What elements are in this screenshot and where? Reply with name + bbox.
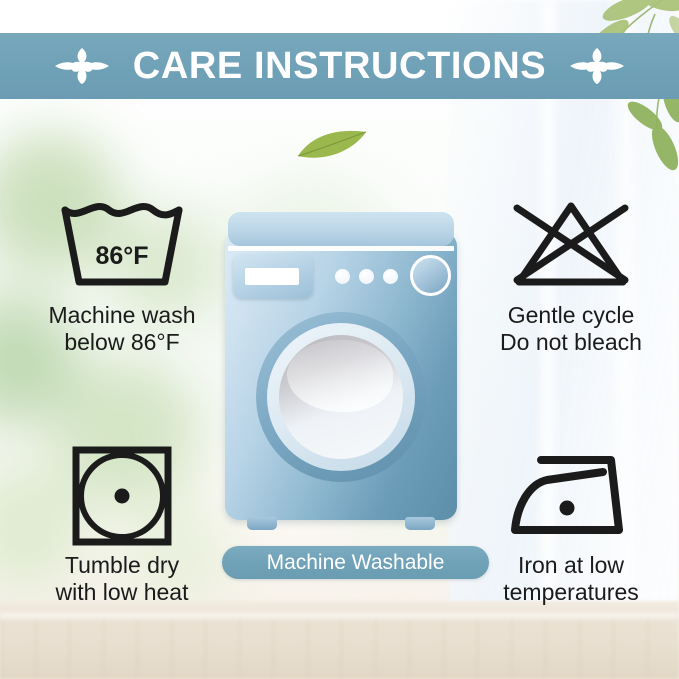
tumble-dry-icon-wrap <box>14 440 230 552</box>
detergent-drawer-slot <box>245 268 299 285</box>
detergent-drawer <box>233 254 313 298</box>
indicator-dot <box>383 269 398 284</box>
porthole-door-highlight <box>287 340 393 412</box>
machine-foot <box>247 517 277 530</box>
washing-machine-illustration <box>225 212 457 524</box>
machine-foot <box>405 517 435 530</box>
fleur-de-lis-right-icon <box>568 46 626 86</box>
care-symbol-iron: Iron at low temperatures <box>470 440 672 606</box>
header-banner: CARE INSTRUCTIONS <box>0 33 679 99</box>
machine-panel-divider <box>228 246 454 251</box>
machine-washable-badge: Machine Washable <box>222 546 489 579</box>
no-bleach-icon-wrap <box>470 190 672 302</box>
wash-basin-icon-wrap: 86°F <box>14 190 230 302</box>
wash-temperature-value: 86°F <box>14 242 230 271</box>
triangle-crossed-no-bleach-icon <box>507 196 635 296</box>
iron-icon-wrap <box>470 440 672 552</box>
page-title: CARE INSTRUCTIONS <box>133 47 546 85</box>
iron-low-temperature-icon <box>507 450 635 542</box>
machine-top-lid <box>228 212 454 246</box>
care-symbol-caption: Machine wash below 86°F <box>14 302 230 356</box>
care-symbol-caption: Iron at low temperatures <box>470 552 672 606</box>
badge-label: Machine Washable <box>267 552 445 573</box>
table-wood-grain <box>0 619 679 679</box>
care-instructions-infographic: CARE INSTRUCTIONS 86°F Machine wash belo… <box>0 0 679 679</box>
care-symbol-caption: Gentle cycle Do not bleach <box>470 302 672 356</box>
tumble-dry-low-heat-icon <box>70 444 174 548</box>
fleur-de-lis-left-icon <box>53 46 111 86</box>
control-knob <box>410 255 451 296</box>
care-symbol-caption: Tumble dry with low heat <box>14 552 230 606</box>
indicator-dot <box>359 269 374 284</box>
care-symbol-tumble-dry: Tumble dry with low heat <box>14 440 230 606</box>
care-symbol-no-bleach: Gentle cycle Do not bleach <box>470 190 672 356</box>
care-symbol-machine-wash: 86°F Machine wash below 86°F <box>14 190 230 356</box>
indicator-dot <box>335 269 350 284</box>
